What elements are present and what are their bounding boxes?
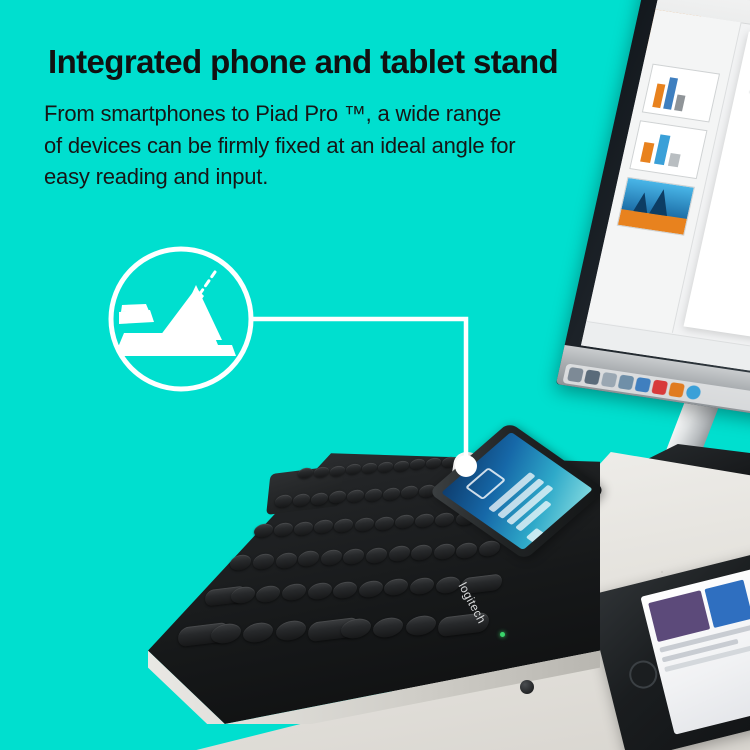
dock-icon[interactable]: [618, 374, 635, 390]
keyboard-key[interactable]: [252, 552, 274, 570]
keyboard-key[interactable]: [374, 515, 394, 531]
keyboard-key[interactable]: [314, 519, 334, 535]
status-led-icon: [500, 632, 505, 637]
keyboard-key[interactable]: [346, 463, 362, 475]
keyboard-key[interactable]: [310, 491, 328, 505]
tablet-ui-element: [704, 580, 750, 628]
dock-icon[interactable]: [567, 367, 584, 383]
keyboard-key[interactable]: [394, 459, 410, 471]
subcopy-line: From smartphones to Piad Pro ™, a wide r…: [44, 98, 604, 130]
keyboard-dial[interactable]: [520, 680, 534, 694]
keyboard-key[interactable]: [333, 580, 358, 599]
dock-icon[interactable]: [668, 382, 685, 398]
page-title: Integrated phone and tablet stand: [48, 44, 658, 80]
keyboard-key[interactable]: [334, 518, 354, 534]
keyboard-key[interactable]: [328, 490, 346, 504]
page-subcopy: From smartphones to Piad Pro ™, a wide r…: [44, 98, 604, 193]
keyboard-key[interactable]: [253, 523, 273, 539]
subcopy-line: easy reading and input.: [44, 161, 604, 193]
keyboard-key[interactable]: [433, 542, 455, 560]
keyboard-key[interactable]: [382, 486, 400, 500]
keyboard-key[interactable]: [256, 584, 281, 603]
keyboard-key[interactable]: [274, 494, 292, 508]
keyboard-key[interactable]: [400, 485, 418, 499]
keyboard-key[interactable]: [378, 461, 394, 473]
dock-icon[interactable]: [634, 377, 651, 393]
keyboard-key[interactable]: [298, 550, 320, 568]
keyboard-key[interactable]: [314, 466, 330, 478]
keyboard-key[interactable]: [298, 467, 314, 479]
product-feature-poster: logitech Integrated phone and tablet sta…: [0, 0, 750, 750]
keyboard-key[interactable]: [362, 462, 378, 474]
keyboard-key[interactable]: [372, 615, 403, 638]
keyboard-key[interactable]: [230, 554, 252, 572]
keyboard-key[interactable]: [478, 540, 500, 558]
subcopy-line: of devices can be firmly fixed at an ide…: [44, 130, 604, 162]
keyboard-key[interactable]: [426, 457, 442, 469]
keyboard-key[interactable]: [364, 488, 382, 502]
keyboard-key[interactable]: [358, 579, 383, 598]
keyboard-key[interactable]: [409, 576, 434, 595]
tablet-ui-element: [648, 590, 710, 642]
keyboard-key[interactable]: [394, 514, 414, 530]
keyboard-key[interactable]: [273, 521, 293, 537]
keyboard-key[interactable]: [281, 583, 306, 602]
keyboard-key[interactable]: [365, 546, 387, 564]
slide-thumbnail[interactable]: [617, 177, 695, 236]
phone-app-badge-icon: [465, 467, 506, 500]
keyboard-key[interactable]: [242, 620, 273, 643]
keyboard-key[interactable]: [410, 458, 426, 470]
keyboard-key[interactable]: [293, 520, 313, 536]
keyboard-key[interactable]: [343, 547, 365, 565]
keyboard-key[interactable]: [405, 614, 436, 637]
keyboard-key[interactable]: [415, 513, 435, 529]
dock-icon[interactable]: [685, 385, 702, 401]
keyboard-key[interactable]: [456, 541, 478, 559]
keyboard-key[interactable]: [275, 619, 306, 642]
keyboard-key[interactable]: [292, 493, 310, 507]
keyboard-key[interactable]: [307, 581, 332, 600]
dock-icon[interactable]: [601, 372, 618, 388]
keyboard-key[interactable]: [275, 551, 297, 569]
dock-icon[interactable]: [584, 369, 601, 385]
slide-thumbnail[interactable]: [629, 120, 707, 179]
keyboard-key[interactable]: [435, 511, 455, 527]
keyboard-key[interactable]: [346, 489, 364, 503]
keyboard-key[interactable]: [330, 464, 346, 476]
keyboard-key[interactable]: [411, 544, 433, 562]
keyboard-key[interactable]: [388, 545, 410, 563]
keyboard-key[interactable]: [384, 578, 409, 597]
dock-icon[interactable]: [651, 380, 668, 396]
keyboard-key[interactable]: [320, 549, 342, 567]
keyboard-key[interactable]: [354, 516, 374, 532]
system-dock: [562, 363, 750, 443]
